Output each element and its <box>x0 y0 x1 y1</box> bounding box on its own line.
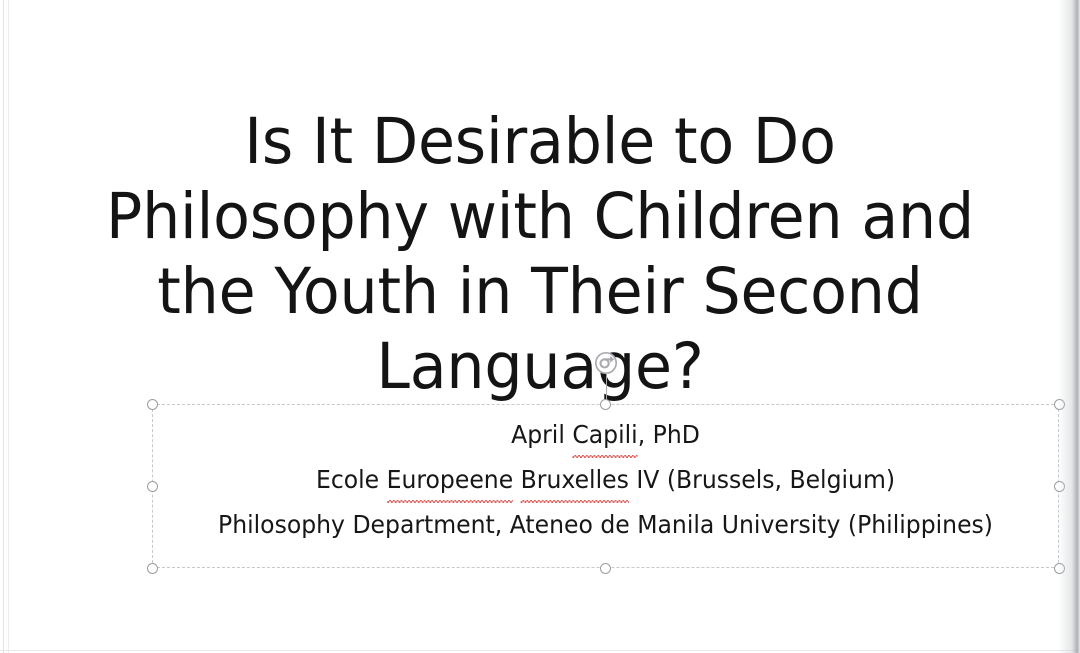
subtitle-line-1: April Capili, PhD <box>170 412 1041 457</box>
subtitle-line-2-misspelled-word-2[interactable]: Bruxelles <box>521 457 629 502</box>
slide-right-shadow <box>1058 0 1080 653</box>
slide-left-edge-rule <box>3 0 4 653</box>
subtitle-line-2-segment-5: IV (Brussels, Belgium) <box>629 465 895 494</box>
subtitle-line-2-space <box>513 465 520 494</box>
slide-left-inner-rule <box>8 0 9 653</box>
slide-bottom-edge-rule <box>0 650 1080 651</box>
handle-bottom-center[interactable] <box>600 563 611 574</box>
subtitle-line-1-segment-3: , PhD <box>638 420 700 449</box>
handle-top-left[interactable] <box>147 399 158 410</box>
handle-bottom-left[interactable] <box>147 563 158 574</box>
subtitle-line-2-misspelled-word-1[interactable]: Europeene <box>387 457 514 502</box>
handle-middle-left[interactable] <box>147 481 158 492</box>
handle-top-center[interactable] <box>600 399 611 410</box>
subtitle-line-1-segment-1: April <box>511 420 572 449</box>
subtitle-line-3: Philosophy Department, Ateneo de Manila … <box>170 502 1041 547</box>
subtitle-line-3-segment-1: Philosophy Department, Ateneo de Manila … <box>218 510 993 539</box>
subtitle-line-2-segment-1: Ecole <box>316 465 387 494</box>
slide-canvas[interactable]: Is It Desirable to Do Philosophy with Ch… <box>0 0 1080 653</box>
subtitle-textbox[interactable]: April Capili, PhD Ecole Europeene Bruxel… <box>152 404 1059 568</box>
subtitle-text[interactable]: April Capili, PhD Ecole Europeene Bruxel… <box>170 412 1041 547</box>
subtitle-line-2: Ecole Europeene Bruxelles IV (Brussels, … <box>170 457 1041 502</box>
rotate-icon[interactable] <box>593 350 619 376</box>
slide-title[interactable]: Is It Desirable to Do Philosophy with Ch… <box>91 104 989 404</box>
subtitle-line-1-misspelled-word[interactable]: Capili <box>572 412 637 457</box>
